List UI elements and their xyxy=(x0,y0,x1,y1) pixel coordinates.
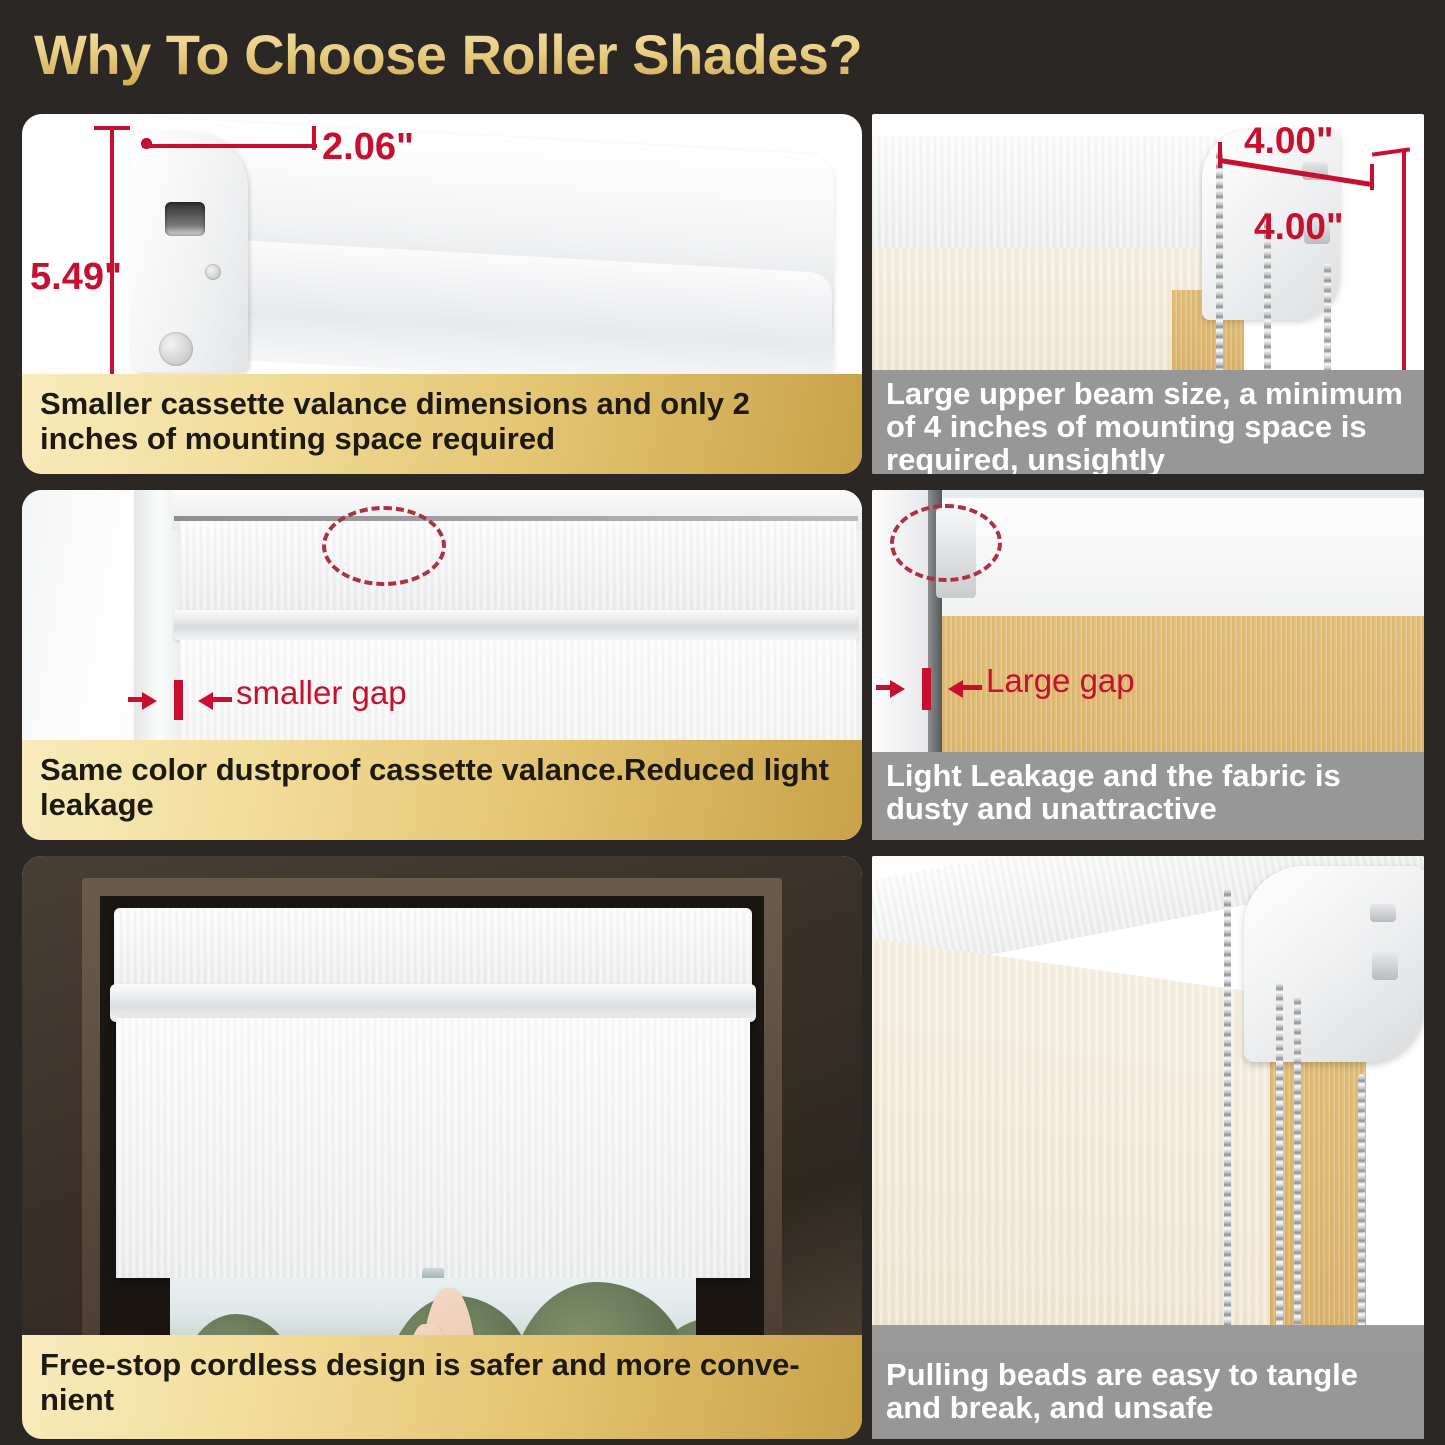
panel-4-caption: Light Leakage and the fabric is dusty an… xyxy=(872,752,1424,840)
large-gap-label: Large gap xyxy=(986,662,1135,700)
panel-6-caption: Pulling beads are easy to tangle and bre… xyxy=(872,1351,1424,1439)
bracket-notch-upper-icon xyxy=(1370,904,1396,922)
valance-rail xyxy=(174,610,858,640)
gap-arrow-left-stem xyxy=(876,685,894,690)
comparison-grid: 2.06" 5.49" Smaller cassette valance dim… xyxy=(0,108,1445,1445)
roller-shade-fabric xyxy=(116,1018,750,1278)
page-header: Why To Choose Roller Shades? xyxy=(0,0,1445,108)
panel-cassette-valance-dimensions: 2.06" 5.49" Smaller cassette valance dim… xyxy=(22,114,862,474)
width-dimension-line xyxy=(142,144,317,148)
screw-icon xyxy=(205,264,221,280)
beam-height-label: 4.00" xyxy=(1254,206,1344,248)
panel-2-caption: Large upper beam size, a minimum of 4 in… xyxy=(872,370,1424,474)
bead-chain-middle-2[interactable] xyxy=(1294,996,1301,1364)
beam-width-tick-left xyxy=(1218,142,1222,168)
cassette-valance xyxy=(180,518,856,610)
valance-end-cap xyxy=(130,132,248,372)
panel-5-caption-line-1: Free-stop cordless design is safer and m… xyxy=(40,1347,846,1382)
panel-dustproof-cassette-valance: smaller gap Same color dustproof cassett… xyxy=(22,490,862,840)
panel-light-leakage: Large gap Light Leakage and the fabric i… xyxy=(872,490,1424,840)
panel-foot-gray xyxy=(872,1325,1424,1351)
smaller-gap-label: smaller gap xyxy=(236,674,407,712)
page-title: Why To Choose Roller Shades? xyxy=(34,22,862,87)
gap-highlight-ellipse xyxy=(322,506,446,586)
valance-seam-line xyxy=(174,516,858,521)
panel-5-caption-line-2: nient xyxy=(40,1382,846,1417)
bead-chain-left[interactable] xyxy=(1224,888,1231,1358)
bracket-notch-lower-icon xyxy=(1372,952,1398,980)
height-dimension-tick-top xyxy=(94,126,130,130)
panel-free-stop-cordless: Free-stop cordless design is safer and m… xyxy=(22,856,862,1439)
width-dimension-label: 2.06" xyxy=(322,126,414,169)
sheer-fabric-upper xyxy=(872,136,1232,256)
panel-1-caption: Smaller cassette valance dimensions and … xyxy=(22,374,862,474)
panel-large-upper-beam: 4.00" 4.00" Large upper beam size, a min… xyxy=(872,114,1424,474)
valance-slot xyxy=(165,202,205,236)
upper-white-fabric xyxy=(942,498,1424,616)
valance-rail xyxy=(110,984,756,1022)
bead-chain-right[interactable] xyxy=(1358,1074,1365,1364)
gap-marker-bar xyxy=(174,680,183,720)
beam-width-tick-right xyxy=(1370,164,1374,190)
cassette-valance xyxy=(114,908,752,990)
gap-arrow-right-icon xyxy=(948,680,963,698)
gap-marker-bar xyxy=(922,668,931,710)
screw-lower-icon xyxy=(159,332,193,366)
width-dimension-tick-right xyxy=(312,126,316,150)
gap-arrow-right-stem xyxy=(212,697,232,702)
panel-5-caption: Free-stop cordless design is safer and m… xyxy=(22,1335,862,1439)
gap-arrow-right-icon xyxy=(198,692,213,710)
tan-fabric-back xyxy=(1270,1026,1366,1373)
panel-3-caption: Same color dustproof cassette valance.Re… xyxy=(22,740,862,840)
beam-width-label: 4.00" xyxy=(1244,120,1334,162)
height-dimension-label: 5.49" xyxy=(30,256,122,299)
gap-arrow-left-stem xyxy=(128,697,148,702)
gap-arrow-right-stem xyxy=(962,685,982,690)
leak-highlight-ellipse xyxy=(890,504,1002,582)
bead-chain-middle[interactable] xyxy=(1276,982,1283,1362)
bead-chain-left[interactable] xyxy=(1216,150,1223,395)
panel-pulling-beads-unsafe: Pulling beads are easy to tangle and bre… xyxy=(872,856,1424,1439)
